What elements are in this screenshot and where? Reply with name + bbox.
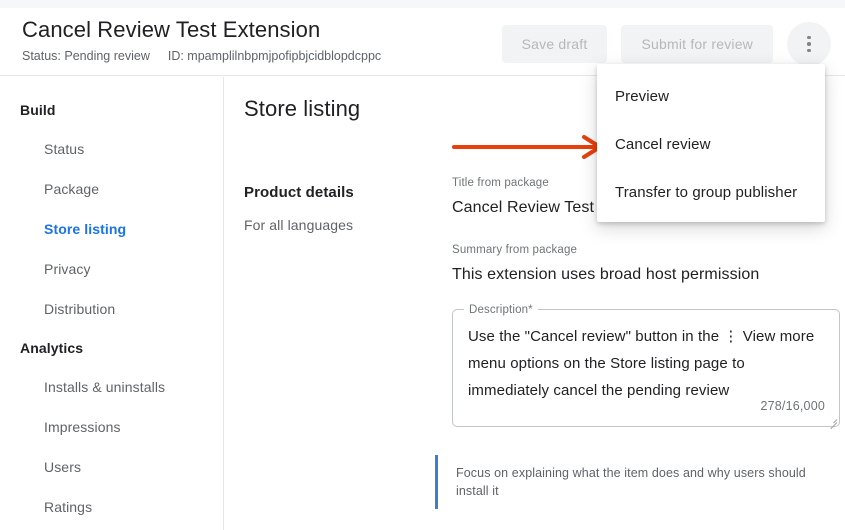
product-details-column: Product details For all languages <box>244 182 434 235</box>
sidebar-item-package[interactable]: Package <box>0 169 223 209</box>
chrome-web-store-developer-dashboard: Cancel Review Test Extension Status: Pen… <box>0 0 845 530</box>
header-actions: Save draft Submit for review <box>502 22 831 66</box>
resize-handle-icon[interactable] <box>827 414 837 424</box>
sidebar-section-build: Build <box>0 91 223 129</box>
sidebar-item-status[interactable]: Status <box>0 129 223 169</box>
more-options-button[interactable] <box>787 22 831 66</box>
summary-from-package-value: This extension uses broad host permissio… <box>452 263 842 287</box>
description-hint: Focus on explaining what the item does a… <box>435 455 835 509</box>
store-listing-heading: Store listing <box>244 94 360 124</box>
header-meta-row: Status: Pending review ID: mpamplilnbpmj… <box>22 48 381 64</box>
sidebar-item-distribution[interactable]: Distribution <box>0 289 223 329</box>
submit-for-review-button[interactable]: Submit for review <box>621 25 773 63</box>
menu-item-transfer-to-group-publisher[interactable]: Transfer to group publisher <box>597 168 825 216</box>
sidebar-section-analytics: Analytics <box>0 329 223 367</box>
page-title: Cancel Review Test Extension <box>22 16 381 44</box>
sidebar-nav: Build Status Package Store listing Priva… <box>0 77 224 530</box>
more-options-menu: Preview Cancel review Transfer to group … <box>597 64 825 222</box>
sidebar-item-impressions[interactable]: Impressions <box>0 407 223 447</box>
sidebar-item-users[interactable]: Users <box>0 447 223 487</box>
description-character-count: 278/16,000 <box>760 399 825 413</box>
menu-item-preview[interactable]: Preview <box>597 72 825 120</box>
extension-id: ID: mpamplilnbpmjpofipbjcidblopdcppc <box>168 48 381 64</box>
kebab-dot-icon <box>807 36 811 40</box>
description-value: Use the "Cancel review" button in the ⋮ … <box>468 323 818 404</box>
status-badge: Status: Pending review <box>22 48 150 64</box>
sidebar-item-store-listing[interactable]: Store listing <box>0 209 223 249</box>
kebab-dot-icon <box>807 42 811 46</box>
header-title-block: Cancel Review Test Extension Status: Pen… <box>22 16 381 64</box>
sidebar-item-privacy[interactable]: Privacy <box>0 249 223 289</box>
menu-item-cancel-review[interactable]: Cancel review <box>597 120 825 168</box>
product-details-heading: Product details <box>244 182 434 204</box>
summary-from-package-field: Summary from package This extension uses… <box>452 242 842 287</box>
top-chrome-strip <box>0 0 845 8</box>
description-textarea[interactable]: Description* Use the "Cancel review" but… <box>452 309 840 427</box>
summary-from-package-label: Summary from package <box>452 242 842 258</box>
product-details-subtext: For all languages <box>244 215 434 235</box>
kebab-dot-icon <box>807 49 811 53</box>
sidebar-item-installs-uninstalls[interactable]: Installs & uninstalls <box>0 367 223 407</box>
description-label: Description* <box>464 302 538 318</box>
save-draft-button[interactable]: Save draft <box>502 25 608 63</box>
sidebar-item-ratings[interactable]: Ratings <box>0 487 223 527</box>
description-hint-text: Focus on explaining what the item does a… <box>456 464 835 500</box>
